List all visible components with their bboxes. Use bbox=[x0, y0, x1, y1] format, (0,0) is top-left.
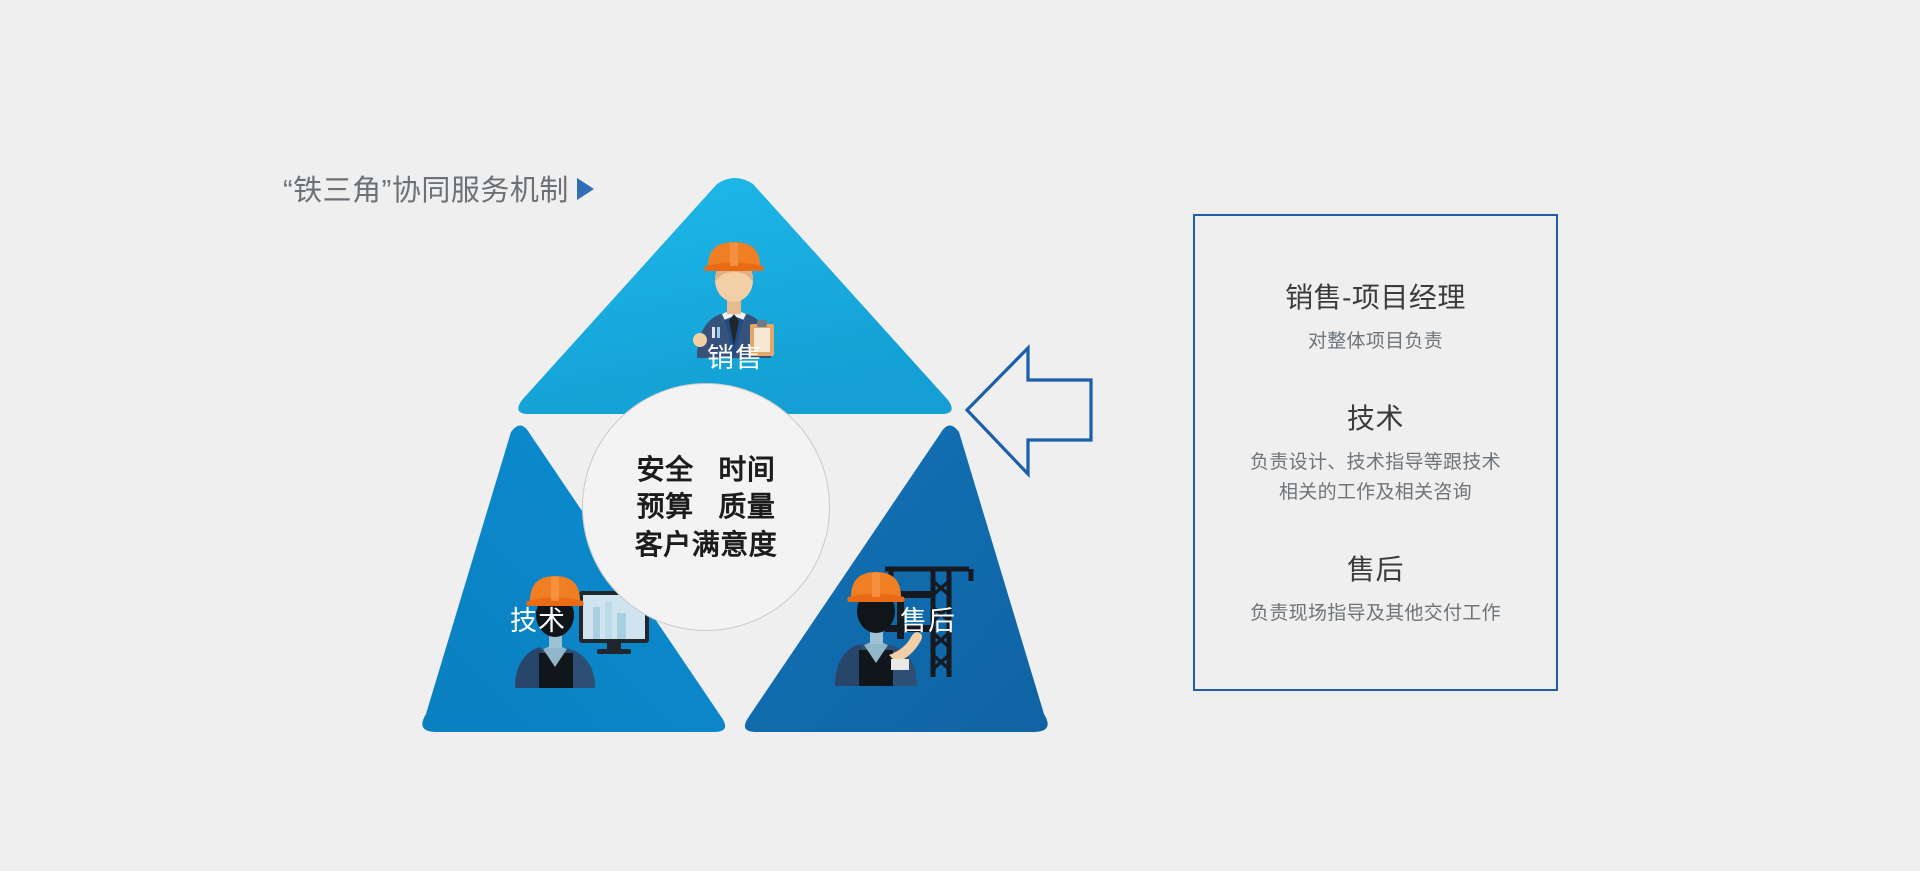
role-desc-line: 负责现场指导及其他交付工作 bbox=[1195, 599, 1556, 629]
triangle-label-sales: 销售 bbox=[415, 336, 1055, 375]
roles-info-panel: 销售-项目经理 对整体项目负责 技术 负责设计、技术指导等跟技术 相关的工作及相… bbox=[1193, 214, 1558, 691]
role-desc-line: 负责设计、技术指导等跟技术 bbox=[1195, 448, 1556, 478]
role-heading: 技术 bbox=[1195, 397, 1556, 437]
arrow-left-outline-icon bbox=[965, 338, 1100, 483]
triangle-label-aftersales: 售后 bbox=[833, 599, 1023, 638]
role-desc-line: 相关的工作及相关咨询 bbox=[1195, 478, 1556, 508]
role-block-sales: 销售-项目经理 对整体项目负责 bbox=[1195, 276, 1556, 357]
center-goals-circle: 安全 时间 预算 质量 客户满意度 bbox=[582, 383, 830, 631]
iron-triangle-graphic: 销售 技术 售后 安全 时间 预算 质量 客户满意度 bbox=[415, 178, 1055, 748]
center-goal-line-3: 客户满意度 bbox=[635, 526, 778, 563]
role-heading: 销售-项目经理 bbox=[1195, 276, 1556, 316]
role-desc-line: 对整体项目负责 bbox=[1195, 327, 1556, 357]
role-heading: 售后 bbox=[1195, 548, 1556, 588]
center-goal-line-2: 预算 质量 bbox=[637, 488, 776, 525]
center-goal-line-1: 安全 时间 bbox=[637, 451, 776, 488]
diagram-canvas: “铁三角”协同服务机制 bbox=[0, 0, 1920, 871]
role-block-aftersales: 售后 负责现场指导及其他交付工作 bbox=[1195, 548, 1556, 629]
role-block-technology: 技术 负责设计、技术指导等跟技术 相关的工作及相关咨询 bbox=[1195, 397, 1556, 508]
triangle-label-technology: 技术 bbox=[443, 599, 633, 638]
